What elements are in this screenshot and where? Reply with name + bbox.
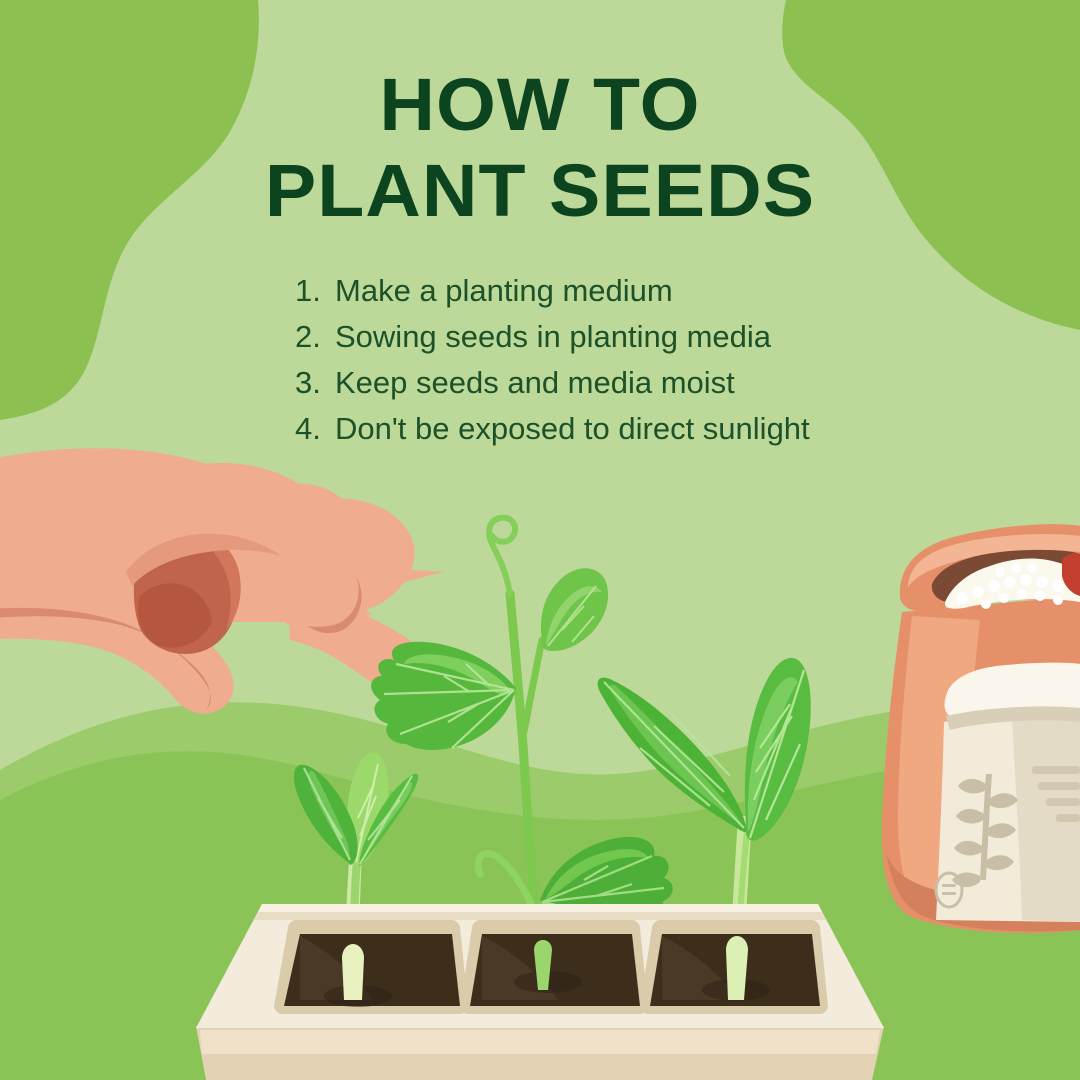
step-number: 1. xyxy=(295,268,335,314)
tray-cell-1 xyxy=(274,920,468,1014)
steps-list: 1. Make a planting medium 2. Sowing seed… xyxy=(295,268,935,452)
step-number: 4. xyxy=(295,406,335,452)
step-text: Make a planting medium xyxy=(335,268,673,314)
title-line-2: PLANT SEEDS xyxy=(0,148,1080,234)
plant-center-branch-upper xyxy=(524,640,542,732)
list-item: 1. Make a planting medium xyxy=(295,268,935,314)
seed-packet-illustration xyxy=(936,663,1080,922)
plant-right-stem-base xyxy=(726,936,748,1000)
plant-left-leaf-left xyxy=(294,765,358,865)
step-text: Don't be exposed to direct sunlight xyxy=(335,406,810,452)
step-number: 3. xyxy=(295,360,335,406)
page-title: HOW TO PLANT SEEDS xyxy=(0,62,1080,234)
plant-center-tendril xyxy=(489,518,515,594)
step-text: Keep seeds and media moist xyxy=(335,360,735,406)
plant-right-leaf-upper xyxy=(745,658,811,841)
step-text: Sowing seeds in planting media xyxy=(335,314,771,360)
plant-center-branch-lower xyxy=(478,853,532,906)
seedling-tray-illustration xyxy=(196,904,884,1080)
plant-left-stem-base xyxy=(342,944,364,1000)
poster-canvas: HOW TO PLANT SEEDS 1. Make a planting me… xyxy=(0,0,1080,1080)
list-item: 3. Keep seeds and media moist xyxy=(295,360,935,406)
list-item: 2. Sowing seeds in planting media xyxy=(295,314,935,360)
tray-cell-2 xyxy=(460,920,648,1014)
title-line-1: HOW TO xyxy=(0,62,1080,148)
list-item: 4. Don't be exposed to direct sunlight xyxy=(295,406,935,452)
tray-rim-highlight xyxy=(258,904,822,912)
tray-body-light xyxy=(200,1030,880,1054)
plant-center-leaf-upper xyxy=(541,568,608,651)
step-number: 2. xyxy=(295,314,335,360)
plant-right-leaf-left xyxy=(598,678,747,832)
